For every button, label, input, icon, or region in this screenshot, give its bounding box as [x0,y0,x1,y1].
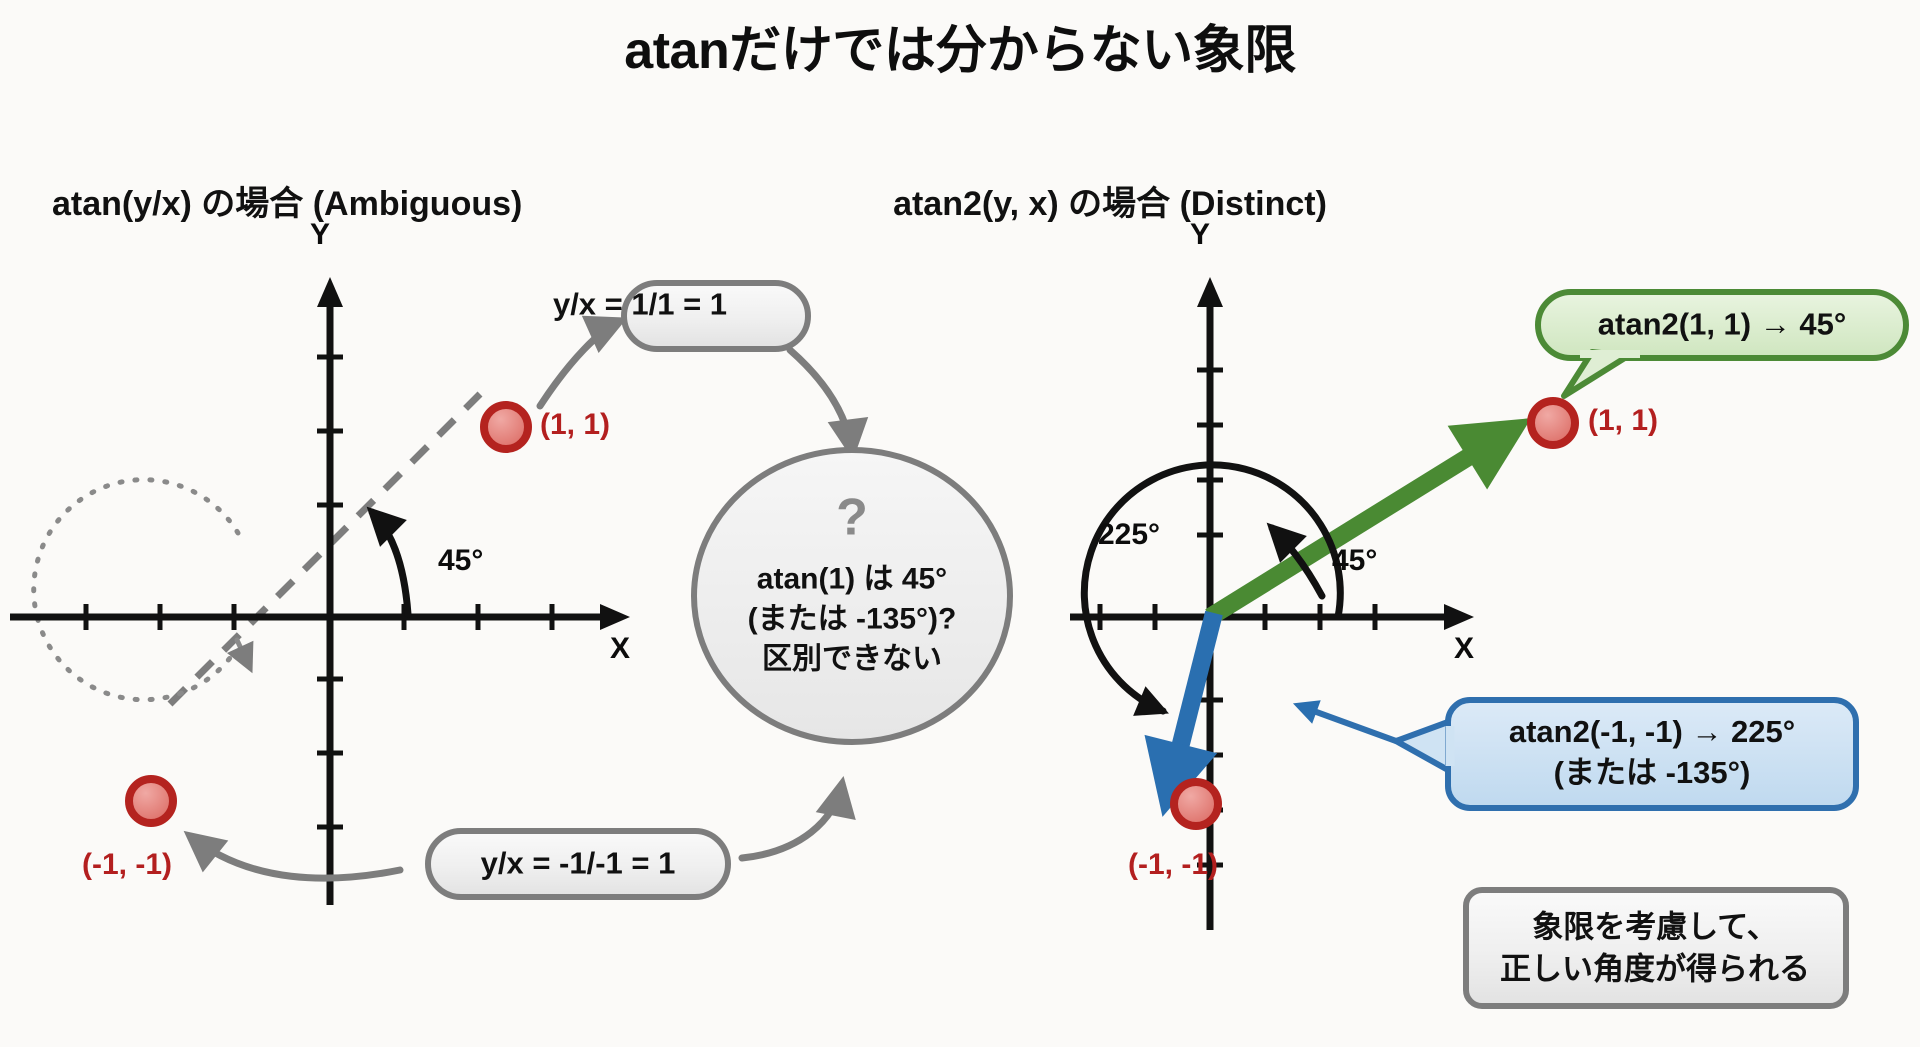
left-connector-top-to-ellipse [790,350,852,452]
left-point-label-neg1-neg1: (-1, -1) [82,848,172,882]
ambiguous-dashed-line [170,394,480,704]
right-point-label-neg1-neg1: (-1, -1) [1128,848,1218,882]
right-gray-note-label: 象限を考慮して、 正しい角度が得られる [1500,906,1810,989]
right-y-axis-label: Y [1190,218,1210,252]
right-angle-label-45: 45° [1332,544,1377,578]
left-point-1-1-marker [484,405,528,449]
right-y-axis-arrowhead [1197,277,1223,307]
left-y-axis-arrowhead [317,277,343,307]
right-angle-label-225: 225° [1098,518,1160,552]
left-point-neg1-neg1-marker [129,779,173,823]
ambiguous-dotted-arc-head [237,640,250,668]
left-y-axis-label: Y [310,218,330,252]
right-point-label-1-1: (1, 1) [1588,404,1658,438]
left-x-axis-label: X [610,632,630,666]
left-ellipse-question-mark: ? [836,487,868,548]
right-green-callout-label: atan2(1, 1) → 45° [1598,307,1846,344]
right-vector-45-green [1210,430,1512,617]
left-pill-top-label: y/x = 1/1 = 1 [553,287,727,324]
slide-canvas: atanだけでは分からない象限 atan(y/x) の場合 (Ambiguous… [0,0,1920,1047]
right-point-neg1-neg1-marker [1174,782,1218,826]
right-x-axis-arrowhead [1444,604,1474,630]
left-pill-bottom-label: y/x = -1/-1 = 1 [481,846,676,883]
left-connector-bottom [190,836,400,878]
right-point-1-1-marker [1531,401,1575,445]
right-x-axis-label: X [1454,632,1474,666]
left-ellipse-text: atan(1) は 45° (または -135°)? 区別できない [748,560,957,681]
right-blue-callout-label: atan2(-1, -1) → 225° (または -135°) [1509,712,1795,794]
left-x-axis-arrowhead [600,604,630,630]
left-angle-label-45: 45° [438,544,483,578]
left-connector-top [540,321,620,406]
diagram-vector-layer [0,0,1920,1047]
left-connector-bottom-to-ellipse [742,784,842,858]
right-panel-plot [1070,277,1906,1006]
left-45-degree-arrow [372,512,408,614]
left-point-label-1-1: (1, 1) [540,408,610,442]
